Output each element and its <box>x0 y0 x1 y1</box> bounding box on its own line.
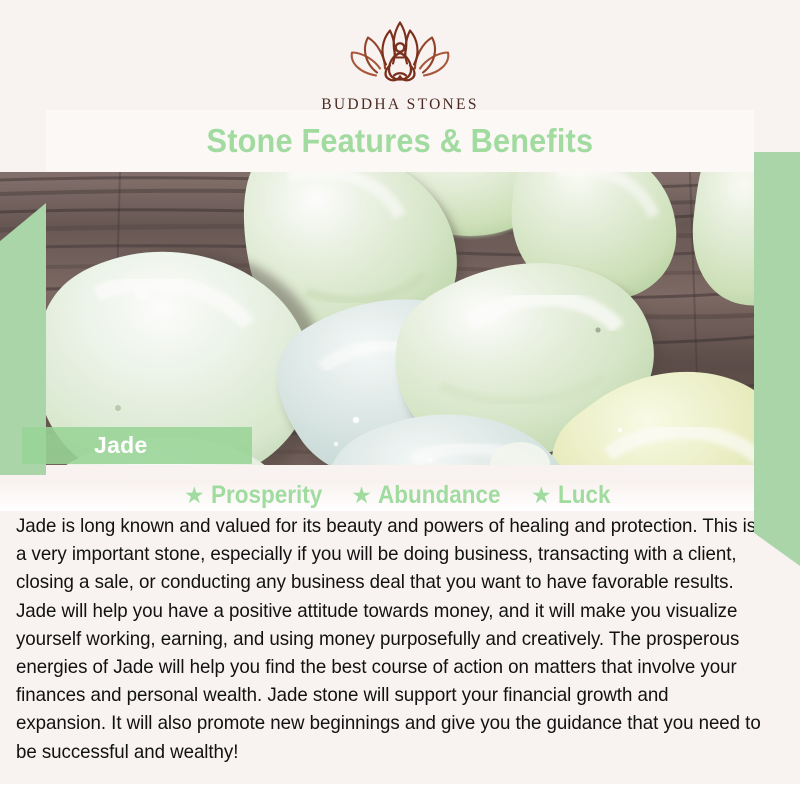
photo-artwork <box>0 172 800 465</box>
right-accent-bar <box>754 152 800 566</box>
page-title: Stone Features & Benefits <box>207 122 594 160</box>
star-icon: ★ <box>351 484 372 507</box>
stone-name-label: Jade <box>94 434 148 457</box>
footer-spacer <box>0 784 800 800</box>
star-icon: ★ <box>531 484 552 507</box>
benefit-item: ★ Luck <box>531 481 616 510</box>
benefits-row: ★ Prosperity ★ Abundance ★ Luck <box>0 479 800 511</box>
infographic-page: BUDDHA STONES <box>0 0 800 800</box>
brand-logo: BUDDHA STONES <box>0 16 800 114</box>
benefit-label: Luck <box>558 481 611 510</box>
benefit-label: Prosperity <box>211 481 322 510</box>
lotus-meditating-figure-icon <box>345 16 455 92</box>
benefit-item: ★ Prosperity <box>184 481 334 510</box>
jade-stones-photo <box>0 172 800 465</box>
section-title-banner: Stone Features & Benefits <box>46 110 754 172</box>
star-icon: ★ <box>184 484 205 507</box>
stone-description: Jade is long known and valued for its be… <box>16 512 761 766</box>
stone-name-chip: Jade <box>22 427 252 464</box>
benefit-item: ★ Abundance <box>351 481 514 510</box>
benefit-label: Abundance <box>378 481 501 510</box>
